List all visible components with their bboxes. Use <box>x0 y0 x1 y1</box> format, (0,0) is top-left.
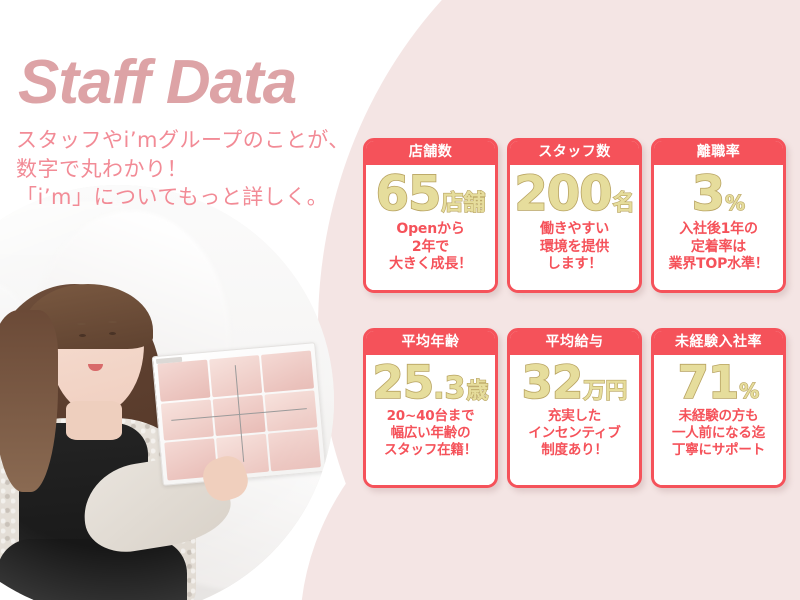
photo-person-hair-side <box>0 310 58 491</box>
stat-card-title: スタッフ数 <box>510 141 639 165</box>
stat-description: 入社後1年の 定着率は 業界TOP水準！ <box>668 221 768 273</box>
staff-data-infographic: Staff Data スタッフやi’mグループのことが、 数字で丸わかり！ 「i… <box>0 0 800 600</box>
stat-card-body: 3 % 入社後1年の 定着率は 業界TOP水準！ <box>654 165 783 290</box>
stat-number: 3 <box>692 170 724 218</box>
photo-person-apron-lower <box>0 539 187 600</box>
page-title: Staff Data <box>18 52 296 114</box>
stat-card-average-salary: 平均給与 32 万円 充実した インセンティブ 制度あり！ <box>507 328 642 488</box>
stat-description: 働きやすい 環境を提供 します！ <box>540 221 609 273</box>
stat-card-grid: 店舗数 65 店舗 Openから 2年で 大きく成長！ スタッフ数 200 名 … <box>363 138 786 488</box>
stat-metric: 32 万円 <box>522 360 628 405</box>
stat-card-body: 71 % 未経験の方も 一人前になる迄 丁寧にサポート <box>654 355 783 485</box>
photo-menu-swatch <box>268 429 321 471</box>
photo-person-eyebrow-right <box>108 321 117 323</box>
stat-metric: 65 店舗 <box>376 170 486 218</box>
stat-decimal: .3 <box>433 374 465 404</box>
photo-person-neck <box>66 401 122 440</box>
stat-unit: 万円 <box>583 381 627 403</box>
photo-menu-swatch <box>261 351 314 393</box>
stat-metric: 200 名 <box>514 170 634 218</box>
stat-unit: 店舗 <box>441 193 485 215</box>
stat-card-body: 200 名 働きやすい 環境を提供 します！ <box>510 165 639 290</box>
stat-card-inexperienced-hire-rate: 未経験入社率 71 % 未経験の方も 一人前になる迄 丁寧にサポート <box>651 328 786 488</box>
stat-card-title: 離職率 <box>654 141 783 165</box>
stat-card-staff-count: スタッフ数 200 名 働きやすい 環境を提供 します！ <box>507 138 642 293</box>
stat-unit: 歳 <box>466 381 488 403</box>
photo-menu-swatch <box>161 399 214 441</box>
stat-number: 32 <box>522 360 583 405</box>
stat-card-body: 65 店舗 Openから 2年で 大きく成長！ <box>366 165 495 290</box>
stat-card-title: 平均給与 <box>510 331 639 355</box>
stat-number: 200 <box>514 170 611 218</box>
photo-menu-swatch <box>157 360 210 402</box>
stat-unit: % <box>725 193 745 213</box>
page-subtitle: スタッフやi’mグループのことが、 数字で丸わかり！ 「i’m」についてもっと詳… <box>16 126 350 212</box>
stat-description: 未経験の方も 一人前になる迄 丁寧にサポート <box>672 408 765 458</box>
stat-card-body: 25 .3 歳 20~40台まで 幅広い年齢の スタッフ在籍！ <box>366 355 495 485</box>
stat-card-title: 未経験入社率 <box>654 331 783 355</box>
stat-unit: 名 <box>613 193 635 215</box>
stat-card-body: 32 万円 充実した インセンティブ 制度あり！ <box>510 355 639 485</box>
stat-unit: % <box>739 381 759 401</box>
stat-number: 71 <box>678 360 739 405</box>
stat-description: 充実した インセンティブ 制度あり！ <box>528 408 620 458</box>
staff-photo-illustration <box>0 185 334 600</box>
staff-photo <box>0 185 334 600</box>
stat-card-average-age: 平均年齢 25 .3 歳 20~40台まで 幅広い年齢の スタッフ在籍！ <box>363 328 498 488</box>
stat-card-title: 平均年齢 <box>366 331 495 355</box>
stat-card-title: 店舗数 <box>366 141 495 165</box>
stat-description: 20~40台まで 幅広い年齢の スタッフ在籍！ <box>384 408 477 458</box>
stat-number: 65 <box>376 170 441 218</box>
stat-card-stores: 店舗数 65 店舗 Openから 2年で 大きく成長！ <box>363 138 498 293</box>
stat-card-turnover-rate: 離職率 3 % 入社後1年の 定着率は 業界TOP水準！ <box>651 138 786 293</box>
stat-number: 25 <box>373 360 434 405</box>
stat-description: Openから 2年で 大きく成長！ <box>389 221 472 273</box>
stat-metric: 25 .3 歳 <box>373 360 489 405</box>
stat-metric: 3 % <box>692 170 745 218</box>
stat-metric: 71 % <box>678 360 760 405</box>
